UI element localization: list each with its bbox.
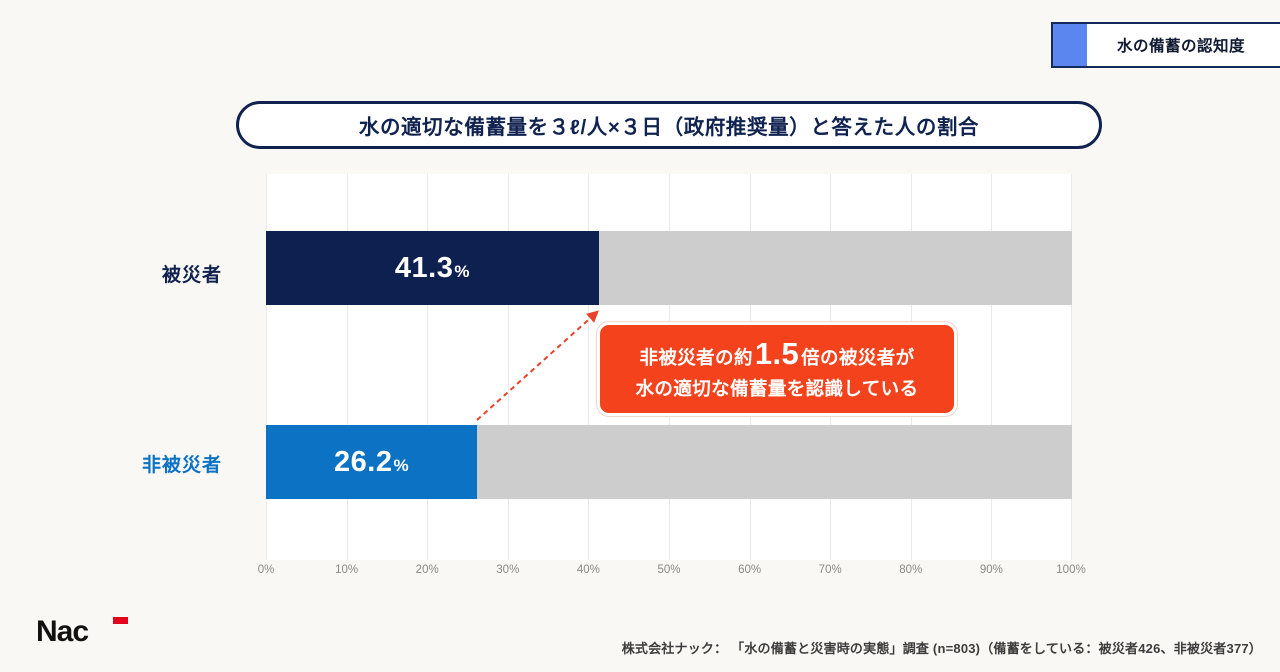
callout-line1-suffix: 倍の被災者が [801,344,914,370]
bar-fill-victim: 41.3% [266,231,599,305]
axis-tick-50: 50% [657,564,680,576]
callout-line-1: 非被災者の約1.5倍の被災者が [639,338,914,370]
callout-multiplier: 1.5 [755,338,799,369]
svg-text:Nac: Nac [36,615,88,648]
source-footnote: 株式会社ナック： 「水の備蓄と災害時の実態」調査 (n=803)（備蓄をしている… [622,638,1262,657]
axis-tick-80: 80% [899,564,922,576]
header-tab-label: 水の備蓄の認知度 [1087,24,1280,66]
axis-tick-40: 40% [577,564,600,576]
axis-tick-90: 90% [980,564,1003,576]
axis-tick-70: 70% [819,564,842,576]
bar-value-nonvictim: 26.2% [334,448,409,477]
chart-x-axis: 0% 10% 20% 30% 40% 50% 60% 70% 80% 90% 1… [266,564,1072,586]
bar-value-victim: 41.3% [395,254,470,283]
axis-tick-10: 10% [335,564,358,576]
axis-tick-0: 0% [258,564,275,576]
callout-box: 非被災者の約1.5倍の被災者が 水の適切な備蓄量を認識している [597,322,957,416]
callout-line1-prefix: 非被災者の約 [639,344,752,370]
callout-line-2: 水の適切な備蓄量を認識している [636,375,919,401]
bar-row-victim: 41.3% [266,231,1072,305]
category-label-nonvictim: 非被災者 [42,450,222,477]
header-tab-accent-block [1053,24,1087,66]
axis-tick-100: 100% [1056,564,1085,576]
axis-tick-60: 60% [738,564,761,576]
header-tab: 水の備蓄の認知度 [1051,22,1280,68]
bar-row-nonvictim: 26.2% [266,425,1072,499]
axis-tick-20: 20% [416,564,439,576]
chart-title-pill: 水の適切な備蓄量を３ℓ/人×３日（政府推奨量）と答えた人の割合 [236,101,1102,149]
category-label-victim: 被災者 [42,260,222,287]
axis-tick-30: 30% [496,564,519,576]
nac-logo-icon: Nac [36,613,156,649]
bar-fill-nonvictim: 26.2% [266,425,477,499]
page-title: 水の適切な備蓄量を３ℓ/人×３日（政府推奨量）と答えた人の割合 [359,110,979,140]
